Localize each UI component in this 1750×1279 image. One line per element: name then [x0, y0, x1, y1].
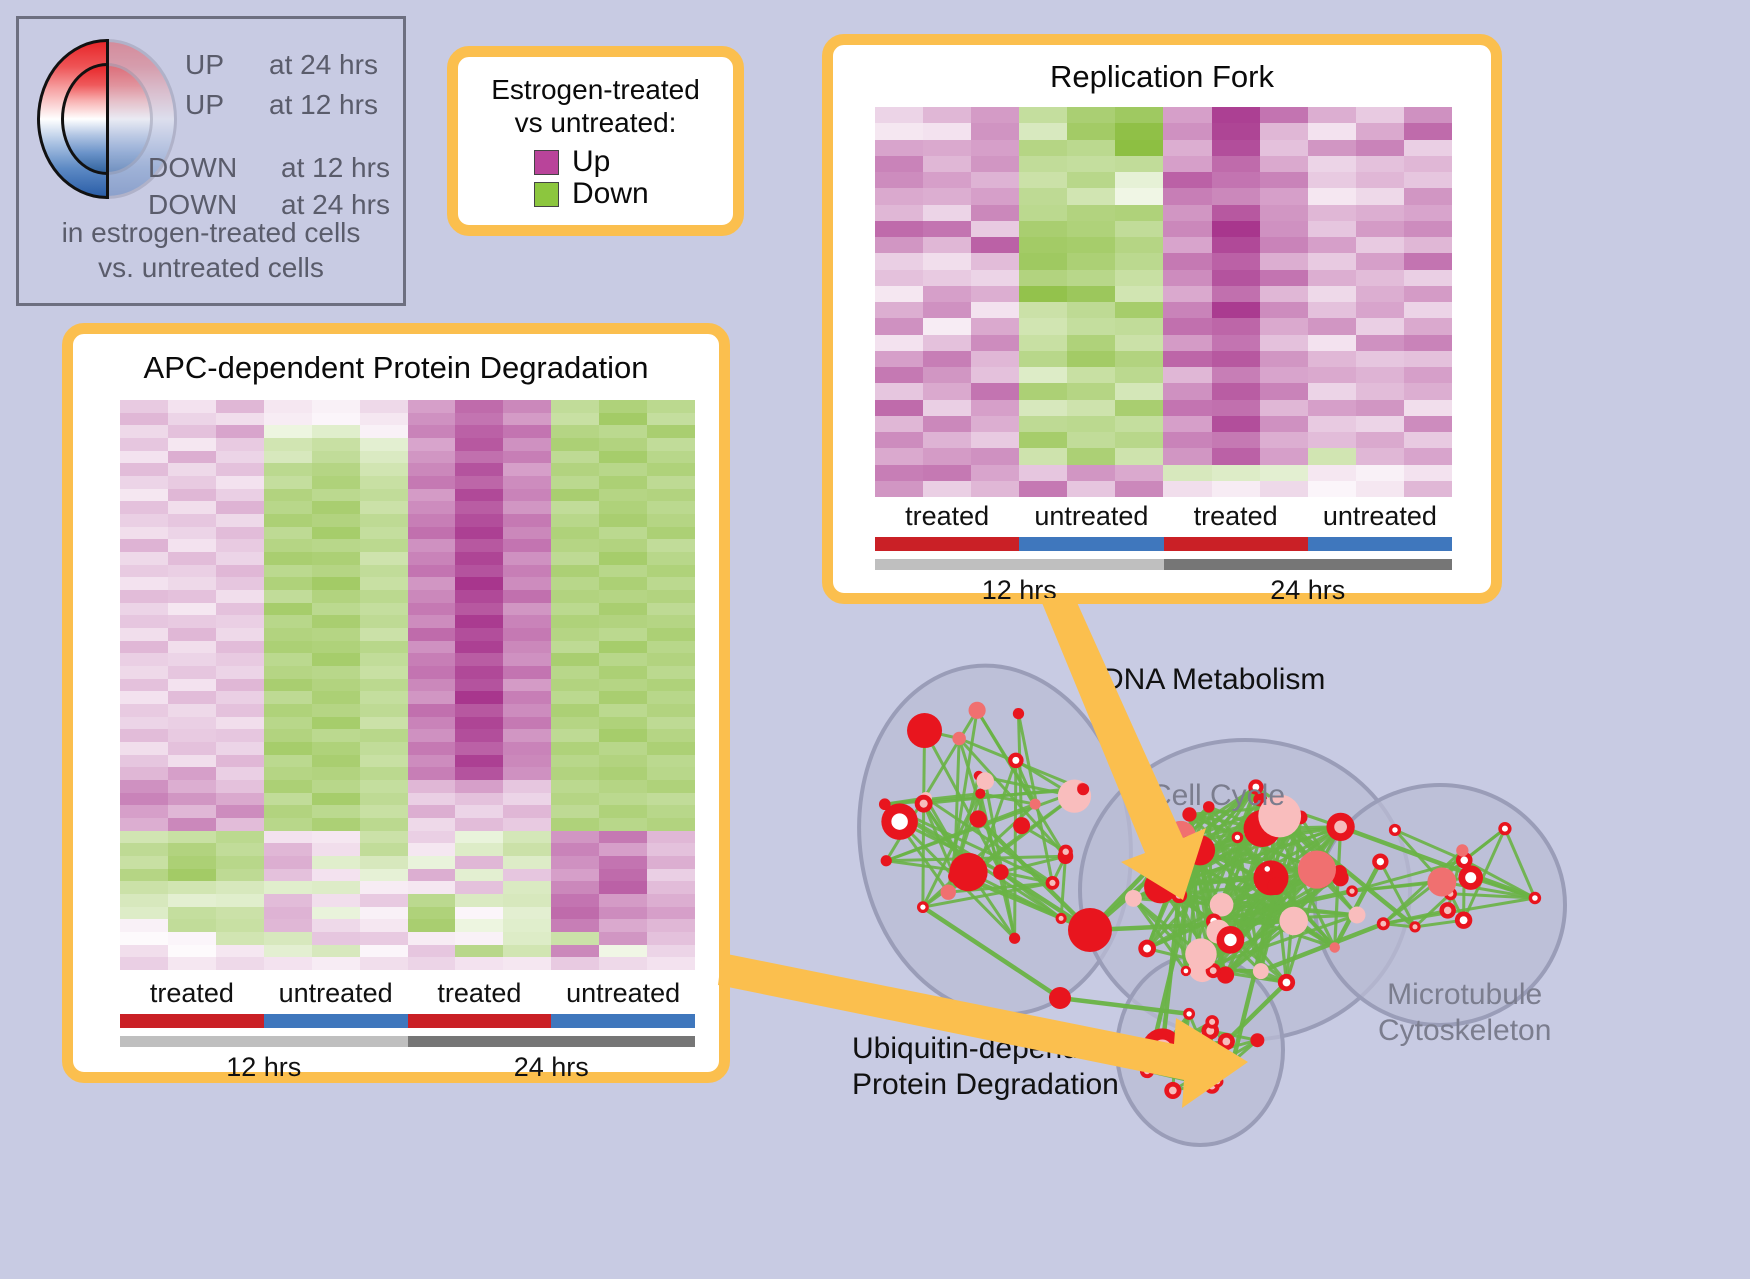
network-node	[969, 702, 986, 719]
heatmap-cell	[1260, 416, 1308, 432]
heatmap-cell	[503, 755, 551, 768]
heatmap-cell	[264, 539, 312, 552]
heatmap-cell	[216, 894, 264, 907]
down-color-swatch	[534, 182, 559, 207]
heatmap-cell	[647, 793, 695, 806]
heatmap-cell	[216, 438, 264, 451]
heatmap-cell	[503, 463, 551, 476]
heatmap-cell	[1212, 367, 1260, 383]
network-node-core	[1392, 827, 1397, 832]
heatmap-cell	[551, 945, 599, 958]
heatmap-cell	[923, 205, 971, 221]
heatmap-cell	[1067, 270, 1115, 286]
heatmap-cell	[1115, 270, 1163, 286]
heatmap-cell	[1115, 286, 1163, 302]
heatmap-cell	[503, 552, 551, 565]
heatmap-cell	[1308, 107, 1356, 123]
cluster-label-microtubule-cytoskeleton: Microtubule Cytoskeleton	[1378, 977, 1551, 1049]
heatmap-cell	[923, 286, 971, 302]
heatmap-cell	[360, 691, 408, 704]
heatmap-cell	[1019, 123, 1067, 139]
heatmap-cell	[455, 679, 503, 692]
heatmap-cell	[551, 742, 599, 755]
heatmap-cell	[360, 767, 408, 780]
heatmap-cell	[599, 577, 647, 590]
heatmap-cell	[923, 400, 971, 416]
heatmap-cell	[599, 907, 647, 920]
heatmap-cell	[1404, 383, 1452, 399]
heatmap-cell	[455, 501, 503, 514]
heatmap-cell	[503, 843, 551, 856]
heatmap-cell	[971, 286, 1019, 302]
colormap-caption-line-1: in estrogen-treated cells	[19, 215, 403, 250]
heatmap-cell	[1404, 351, 1452, 367]
network-node-core	[1230, 1059, 1235, 1064]
heatmap-cell	[1212, 188, 1260, 204]
heatmap-cell	[647, 704, 695, 717]
heatmap-cell	[312, 552, 360, 565]
heatmap-cell	[168, 425, 216, 438]
heatmap-cell	[168, 843, 216, 856]
treatment-bar-0	[120, 1014, 264, 1028]
heatmap-cell	[360, 552, 408, 565]
heatmap-cell	[647, 843, 695, 856]
heatmap-cell	[455, 780, 503, 793]
heatmap-cell	[408, 476, 456, 489]
network-node-core	[1184, 969, 1189, 974]
heatmap-cell	[1067, 335, 1115, 351]
heatmap-cell	[1356, 156, 1404, 172]
heatmap-cell	[1260, 383, 1308, 399]
group-label-2: treated	[1164, 501, 1308, 532]
heatmap-cell	[503, 514, 551, 527]
heatmap-cell	[408, 945, 456, 958]
heatmap-cell	[1115, 221, 1163, 237]
heatmap-cell	[1163, 172, 1211, 188]
heatmap-cell	[1067, 172, 1115, 188]
heatmap-cell	[1356, 188, 1404, 204]
colormap-caption: in estrogen-treated cells vs. untreated …	[19, 215, 403, 285]
heatmap-cell	[1308, 221, 1356, 237]
heatmap-cell	[503, 425, 551, 438]
heatmap-cell	[647, 869, 695, 882]
heatmap-cell	[264, 438, 312, 451]
heatmap-cell	[1356, 416, 1404, 432]
heatmap-cell	[1067, 253, 1115, 269]
network-node	[1349, 906, 1366, 923]
heatmap-cell	[455, 603, 503, 616]
heatmap-cell	[264, 919, 312, 932]
heatmap-cell	[312, 413, 360, 426]
treatment-bar-0	[875, 537, 1019, 551]
heatmap-cell	[360, 539, 408, 552]
heatmap-cell	[1356, 400, 1404, 416]
heatmap-cell	[599, 767, 647, 780]
heatmap-cell	[599, 818, 647, 831]
heatmap-cell	[408, 565, 456, 578]
heatmap-cell	[360, 413, 408, 426]
network-node	[1279, 907, 1308, 936]
heatmap-cell	[216, 539, 264, 552]
heatmap-cell	[360, 729, 408, 742]
heatmap-cell	[1356, 270, 1404, 286]
heatmap-cell	[264, 514, 312, 527]
heatmap-cell	[168, 539, 216, 552]
heatmap-cell	[120, 527, 168, 540]
heatmap-cell	[1404, 205, 1452, 221]
panel-replication-fork-title: Replication Fork	[833, 59, 1491, 95]
treatment-bar-3	[551, 1014, 695, 1028]
heatmap-cell	[599, 615, 647, 628]
heatmap-cell	[1260, 286, 1308, 302]
network-node-core	[1215, 1079, 1220, 1084]
heatmap-cell	[360, 514, 408, 527]
heatmap-cell	[551, 869, 599, 882]
heatmap-cell	[599, 438, 647, 451]
heatmap-cell	[120, 438, 168, 451]
heatmap-cell	[1260, 123, 1308, 139]
heatmap-cell	[971, 172, 1019, 188]
heatmap-cell	[599, 869, 647, 882]
colormap-row-0-time: at 24 hrs	[269, 49, 378, 81]
heatmap-cell	[923, 367, 971, 383]
heatmap-cell	[408, 704, 456, 717]
replication-fork-treatment-bars	[875, 537, 1452, 551]
heatmap-cell	[1260, 481, 1308, 497]
heatmap-cell	[875, 156, 923, 172]
apc-group-labels: treateduntreatedtreateduntreated	[120, 978, 695, 1009]
network-node	[993, 864, 1009, 880]
heatmap-cell	[168, 932, 216, 945]
heatmap-cell	[875, 172, 923, 188]
heatmap-cell	[168, 742, 216, 755]
heatmap-cell	[875, 318, 923, 334]
heatmap-cell	[1404, 123, 1452, 139]
heatmap-cell	[1260, 432, 1308, 448]
heatmap-cell	[1356, 335, 1404, 351]
heatmap-cell	[216, 628, 264, 641]
heatmap-cell	[647, 818, 695, 831]
heatmap-cell	[360, 476, 408, 489]
heatmap-cell	[120, 742, 168, 755]
heatmap-cell	[264, 413, 312, 426]
heatmap-cell	[599, 957, 647, 970]
heatmap-cell	[1067, 140, 1115, 156]
heatmap-cell	[647, 666, 695, 679]
heatmap-cell	[551, 438, 599, 451]
heatmap-cell	[264, 590, 312, 603]
heatmap-cell	[971, 383, 1019, 399]
heatmap-cell	[1019, 367, 1067, 383]
heatmap-cell	[551, 552, 599, 565]
heatmap-cell	[647, 603, 695, 616]
heatmap-cell	[503, 489, 551, 502]
heatmap-cell	[455, 527, 503, 540]
heatmap-cell	[455, 451, 503, 464]
heatmap-cell	[971, 156, 1019, 172]
network-node	[1250, 1033, 1264, 1047]
heatmap-cell	[264, 615, 312, 628]
heatmap-cell	[551, 793, 599, 806]
network-node	[952, 732, 966, 746]
heatmap-cell	[1163, 156, 1211, 172]
heatmap-cell	[264, 476, 312, 489]
heatmap-cell	[647, 957, 695, 970]
heatmap-cell	[875, 432, 923, 448]
heatmap-cell	[408, 463, 456, 476]
heatmap-cell	[264, 805, 312, 818]
heatmap-cell	[1115, 237, 1163, 253]
heatmap-cell	[360, 856, 408, 869]
heatmap-cell	[551, 780, 599, 793]
heatmap-cell	[1212, 237, 1260, 253]
network-node	[1267, 878, 1284, 895]
heatmap-cell	[168, 704, 216, 717]
heatmap-cell	[216, 780, 264, 793]
heatmap-cell	[647, 514, 695, 527]
heatmap-cell	[1404, 465, 1452, 481]
network-node-core	[1223, 1038, 1231, 1046]
heatmap-cell	[216, 755, 264, 768]
heatmap-cell	[312, 476, 360, 489]
network-diagram: DNA Metabolism Cell Cycle Microtubule Cy…	[790, 600, 1750, 1279]
heatmap-cell	[503, 881, 551, 894]
heatmap-cell	[875, 205, 923, 221]
heatmap-cell	[312, 565, 360, 578]
heatmap-cell	[360, 615, 408, 628]
heatmap-cell	[120, 818, 168, 831]
heatmap-cell	[455, 552, 503, 565]
heatmap-cell	[1019, 270, 1067, 286]
heatmap-cell	[1308, 465, 1356, 481]
heatmap-cell	[1067, 156, 1115, 172]
network-node-core	[1502, 826, 1508, 832]
heatmap-cell	[971, 367, 1019, 383]
heatmap-cell	[360, 869, 408, 882]
time-label-0: 12 hrs	[120, 1052, 408, 1083]
heatmap-cell	[1404, 286, 1452, 302]
heatmap-cell	[551, 919, 599, 932]
heatmap-cell	[1115, 123, 1163, 139]
network-node-core	[1144, 1068, 1150, 1074]
heatmap-cell	[408, 514, 456, 527]
heatmap-cell	[923, 270, 971, 286]
heatmap-cell	[216, 577, 264, 590]
heatmap-cell	[168, 717, 216, 730]
heatmap-cell	[455, 641, 503, 654]
heatmap-cell	[1356, 286, 1404, 302]
heatmap-cell	[647, 856, 695, 869]
heatmap-cell	[264, 653, 312, 666]
heatmap-cell	[551, 831, 599, 844]
group-label-0: treated	[875, 501, 1019, 532]
heatmap-cell	[1163, 286, 1211, 302]
heatmap-cell	[264, 856, 312, 869]
heatmap-cell	[647, 489, 695, 502]
heatmap-cell	[551, 881, 599, 894]
heatmap-cell	[216, 805, 264, 818]
heatmap-cell	[1356, 302, 1404, 318]
heatmap-cell	[923, 140, 971, 156]
heatmap-cell	[875, 416, 923, 432]
network-node	[881, 855, 892, 866]
apc-treatment-bars	[120, 1014, 695, 1028]
heatmap-cell	[551, 805, 599, 818]
heatmap-cell	[1163, 318, 1211, 334]
heatmap-cell	[923, 335, 971, 351]
heatmap-cell	[551, 704, 599, 717]
heatmap-cell	[216, 869, 264, 882]
heatmap-cell	[360, 451, 408, 464]
heatmap-cell	[312, 755, 360, 768]
heatmap-cell	[599, 476, 647, 489]
heatmap-cell	[120, 501, 168, 514]
heatmap-cell	[168, 945, 216, 958]
heatmap-cell	[1019, 318, 1067, 334]
heatmap-cell	[551, 907, 599, 920]
network-node-core	[1176, 892, 1183, 899]
heatmap-cell	[120, 856, 168, 869]
heatmap-cell	[551, 957, 599, 970]
group-label-2: treated	[408, 978, 552, 1009]
heatmap-cell	[1019, 221, 1067, 237]
heatmap-cell	[455, 539, 503, 552]
heatmap-cell	[551, 641, 599, 654]
heatmap-cell	[1067, 188, 1115, 204]
heatmap-cell	[216, 476, 264, 489]
heatmap-cell	[120, 552, 168, 565]
heatmap-cell	[216, 489, 264, 502]
heatmap-cell	[923, 156, 971, 172]
network-node-core	[1209, 1019, 1215, 1025]
heatmap-cell	[360, 805, 408, 818]
heatmap-cell	[408, 413, 456, 426]
heatmap-cell	[360, 894, 408, 907]
heatmap-cell	[1163, 481, 1211, 497]
heatmap-cell	[168, 476, 216, 489]
heatmap-cell	[599, 843, 647, 856]
heatmap-cell	[1067, 107, 1115, 123]
heatmap-cell	[120, 729, 168, 742]
heatmap-cell	[1260, 140, 1308, 156]
heatmap-cell	[1163, 270, 1211, 286]
cluster-label-cell-cycle: Cell Cycle	[1150, 778, 1285, 814]
heatmap-cell	[1163, 188, 1211, 204]
heatmap-cell	[408, 907, 456, 920]
heatmap-cell	[120, 666, 168, 679]
heatmap-cell	[1260, 237, 1308, 253]
heatmap-cell	[216, 843, 264, 856]
heatmap-cell	[1404, 318, 1452, 334]
heatmap-cell	[923, 432, 971, 448]
heatmap-cell	[216, 666, 264, 679]
heatmap-cell	[312, 919, 360, 932]
heatmap-cell	[264, 451, 312, 464]
heatmap-cell	[264, 780, 312, 793]
heatmap-cell	[647, 780, 695, 793]
heatmap-cell	[971, 188, 1019, 204]
heatmap-cell	[264, 742, 312, 755]
heatmap-cell	[168, 869, 216, 882]
heatmap-cell	[408, 438, 456, 451]
heatmap-cell	[120, 590, 168, 603]
heatmap-cell	[503, 780, 551, 793]
heatmap-cell	[1260, 172, 1308, 188]
heatmap-cell	[1308, 400, 1356, 416]
heatmap-cell	[503, 451, 551, 464]
heatmap-cell	[599, 805, 647, 818]
up-color-swatch	[534, 150, 559, 175]
heatmap-cell	[120, 691, 168, 704]
heatmap-cell	[599, 539, 647, 552]
heatmap-cell	[408, 451, 456, 464]
heatmap-cell	[503, 679, 551, 692]
heatmap-cell	[1356, 448, 1404, 464]
heatmap-cell	[599, 742, 647, 755]
heatmap-cell	[408, 691, 456, 704]
heatmap-cell	[408, 894, 456, 907]
heatmap-cell	[503, 628, 551, 641]
heatmap-cell	[168, 805, 216, 818]
heatmap-cell	[168, 514, 216, 527]
heatmap-cell	[1404, 156, 1452, 172]
heatmap-cell	[168, 590, 216, 603]
heatmap-cell	[120, 945, 168, 958]
heatmap-cell	[599, 514, 647, 527]
heatmap-cell	[312, 704, 360, 717]
heatmap-cell	[264, 565, 312, 578]
heatmap-cell	[503, 894, 551, 907]
network-node-core	[920, 904, 925, 909]
heatmap-cell	[971, 448, 1019, 464]
heatmap-cell	[216, 691, 264, 704]
heatmap-cell	[1163, 205, 1211, 221]
heatmap-cell	[503, 476, 551, 489]
heatmap-cell	[971, 481, 1019, 497]
heatmap-cell	[120, 869, 168, 882]
network-node-core	[1377, 858, 1384, 865]
heatmap-cell	[455, 704, 503, 717]
heatmap-cell	[168, 400, 216, 413]
heatmap-cell	[551, 894, 599, 907]
heatmap-cell	[168, 653, 216, 666]
heatmap-cell	[1308, 318, 1356, 334]
heatmap-cell	[455, 767, 503, 780]
heatmap-cell	[264, 957, 312, 970]
heatmap-cell	[168, 565, 216, 578]
network-node-core	[1172, 1047, 1179, 1054]
heatmap-cell	[408, 957, 456, 970]
heatmap-cell	[360, 565, 408, 578]
heatmap-cell	[168, 780, 216, 793]
heatmap-cell	[1019, 237, 1067, 253]
heatmap-cell	[1115, 383, 1163, 399]
group-label-1: untreated	[264, 978, 408, 1009]
heatmap-cell	[1308, 367, 1356, 383]
legend-item-down: Down	[534, 179, 719, 209]
heatmap-cell	[551, 729, 599, 742]
heatmap-cell	[599, 919, 647, 932]
heatmap-cell	[312, 742, 360, 755]
heatmap-cell	[120, 451, 168, 464]
heatmap-cell	[1356, 367, 1404, 383]
heatmap-cell	[647, 831, 695, 844]
heatmap-cell	[120, 780, 168, 793]
heatmap-cell	[1308, 351, 1356, 367]
heatmap-cell	[1067, 367, 1115, 383]
heatmap-cell	[1019, 432, 1067, 448]
heatmap-cell	[971, 400, 1019, 416]
